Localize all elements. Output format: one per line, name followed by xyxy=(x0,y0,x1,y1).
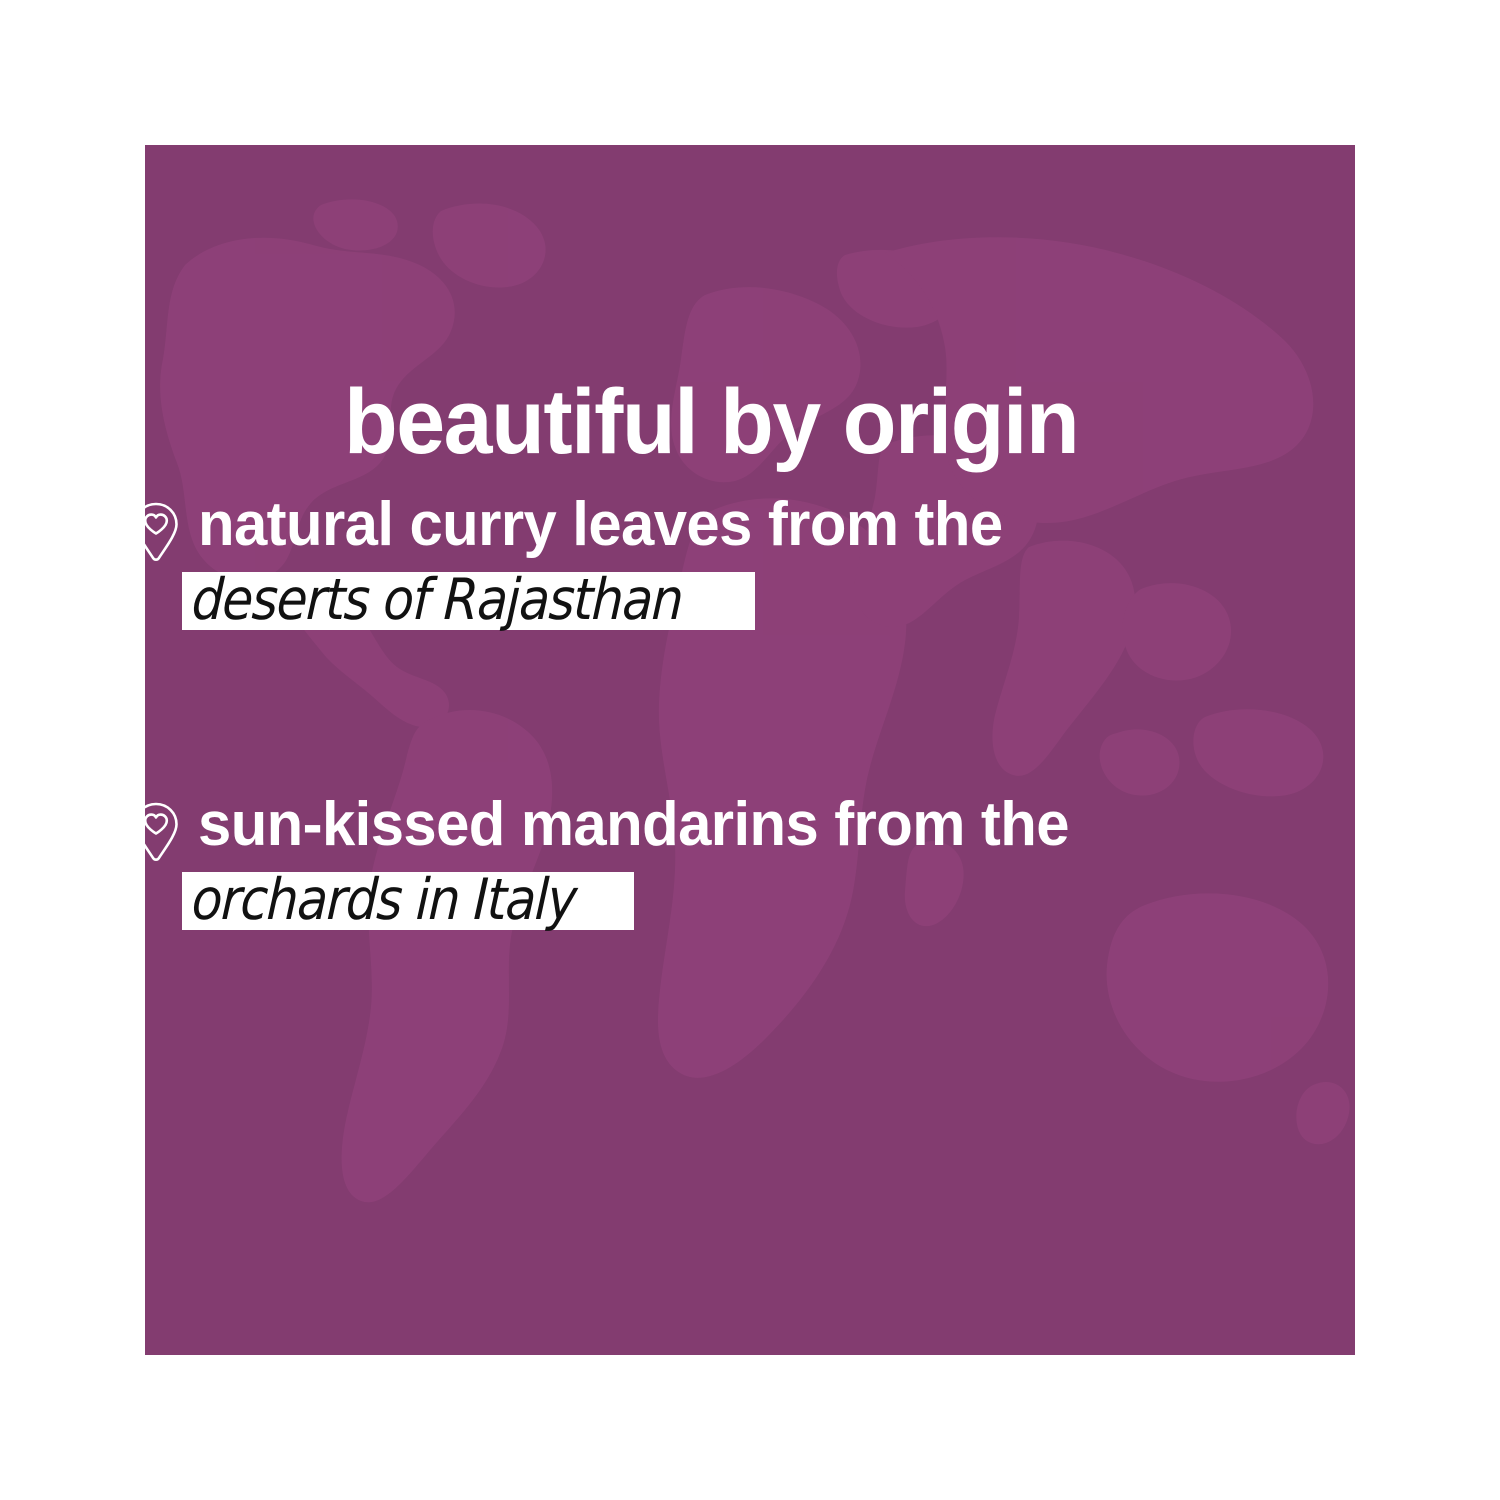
origin-claim-main-text: sun-kissed mandarins from the xyxy=(198,789,1069,861)
origin-claim-main-text: natural curry leaves from the xyxy=(198,489,1003,561)
promo-card-canvas: beautiful by origin natural curry leaves… xyxy=(0,0,1500,1500)
origin-claim-highlight: orchards in Italy xyxy=(182,872,634,930)
origin-claim-highlight: deserts of Rajasthan xyxy=(182,572,755,630)
world-map-background xyxy=(145,145,1355,1355)
page-title: beautiful by origin xyxy=(344,373,1078,471)
origin-claim-highlight-text: deserts of Rajasthan xyxy=(191,571,684,629)
promo-card-panel xyxy=(145,145,1355,1355)
origin-claim-highlight-text: orchards in Italy xyxy=(191,871,578,929)
location-pin-heart-icon xyxy=(131,501,181,563)
location-pin-heart-icon xyxy=(131,801,181,863)
